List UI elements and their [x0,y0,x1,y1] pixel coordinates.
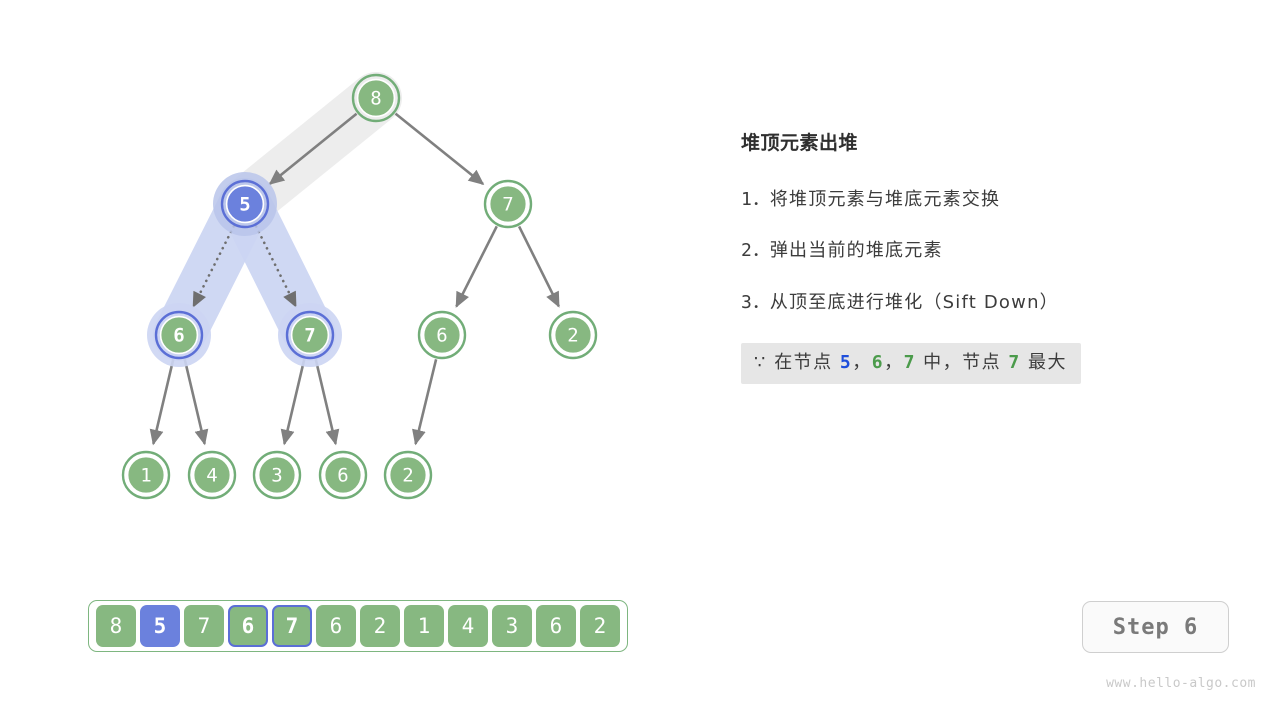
array-cell: 6 [316,605,356,647]
tree-node-7: 7 [287,312,333,358]
tree-diagram: 857676214362 [0,0,700,560]
tree-node-label: 6 [337,465,348,487]
tree-node-3: 3 [254,452,300,498]
tree-edge-n4-n9 [284,359,304,444]
conclusion-middle: 中，节点 [916,352,1008,373]
because-symbol: ∵ [754,352,767,373]
array-cell: 5 [140,605,180,647]
tree-node-label: 1 [140,465,151,487]
array-cell: 4 [448,605,488,647]
array-cell: 6 [536,605,576,647]
path-highlight-bands [179,98,376,335]
tree-edge-n3-n8 [185,359,205,444]
tree-edge-n2-n6 [519,226,559,306]
tree-node-5: 5 [222,181,268,227]
watermark: www.hello-algo.com [1106,676,1256,691]
step-badge: Step 6 [1082,601,1229,653]
tree-node-8: 8 [353,75,399,121]
tree-node-6: 6 [320,452,366,498]
step-index-3: 3． [741,292,770,313]
conclusion-sep-1: ， [852,352,872,373]
array-cell: 7 [184,605,224,647]
tree-node-label: 7 [502,194,513,216]
tree-node-4: 4 [189,452,235,498]
tree-node-label: 2 [567,325,578,347]
conclusion-sep-2: ， [884,352,904,373]
conclusion-suffix: 最大 [1021,352,1067,373]
conclusion-value-4: 7 [1008,352,1020,373]
tree-node-6: 6 [419,312,465,358]
step-index-1: 1． [741,189,770,210]
tree-node-label: 5 [239,194,250,216]
tree-node-2: 2 [385,452,431,498]
array-visualization: 857676214362 [88,600,628,652]
tree-node-label: 4 [206,465,217,487]
array-container: 857676214362 [88,600,628,652]
array-cell: 8 [96,605,136,647]
tree-edge-n5-n11 [416,359,437,444]
array-cell: 7 [272,605,312,647]
tree-node-label: 7 [304,325,315,347]
conclusion-callout: ∵ 在节点 5，6，7 中，节点 7 最大 [741,343,1081,384]
array-cell: 1 [404,605,444,647]
step-index-2: 2． [741,240,770,261]
tree-edge-n4-n10 [316,359,336,444]
conclusion-value-3: 7 [904,352,916,373]
tree-edge-n2-n5 [456,226,496,306]
tree-node-7: 7 [485,181,531,227]
tree-edge-n3-n7 [153,359,173,444]
page-title: 堆顶元素出堆 [741,132,1211,155]
step-line-3: 3．从顶至底进行堆化（Sift Down） [741,292,1211,315]
step-line-2: 2．弹出当前的堆底元素 [741,240,1211,263]
tree-node-2: 2 [550,312,596,358]
tree-node-label: 8 [370,88,381,110]
tree-node-1: 1 [123,452,169,498]
step-line-1: 1．将堆顶元素与堆底元素交换 [741,189,1211,212]
conclusion-value-1: 5 [840,352,852,373]
conclusion-value-2: 6 [872,352,884,373]
tree-node-label: 6 [436,325,447,347]
array-cell: 2 [580,605,620,647]
array-cell: 6 [228,605,268,647]
array-cell: 2 [360,605,400,647]
tree-node-6: 6 [156,312,202,358]
tree-svg: 857676214362 [0,0,700,560]
tree-node-label: 6 [173,325,184,347]
explanation-panel: 堆顶元素出堆 1．将堆顶元素与堆底元素交换 2．弹出当前的堆底元素 3．从顶至底… [741,132,1211,384]
tree-node-label: 2 [402,465,413,487]
tree-edge-n0-n2 [395,114,483,184]
tree-node-label: 3 [271,465,282,487]
step-text-2: 弹出当前的堆底元素 [770,240,943,261]
conclusion-prefix: 在节点 [774,352,840,373]
array-cell: 3 [492,605,532,647]
step-text-3: 从顶至底进行堆化（Sift Down） [770,292,1059,313]
step-text-1: 将堆顶元素与堆底元素交换 [770,189,1000,210]
